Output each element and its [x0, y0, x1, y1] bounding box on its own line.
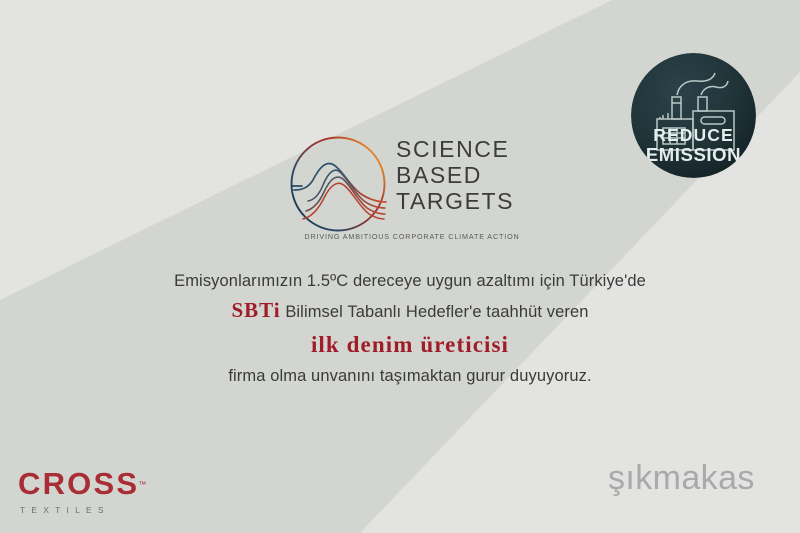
reduce-emission-badge-art: REDUCE EMISSION [631, 53, 756, 178]
sikmakas-logo: şıkmakas [608, 458, 788, 508]
sbt-word-targets: TARGETS [396, 188, 536, 214]
statement-highlight: ilk denim üreticisi [60, 327, 760, 363]
science-based-targets-logo: SCIENCE BASED TARGETS DRIVING AMBITIOUS … [286, 128, 536, 258]
sbt-wave-4 [303, 183, 384, 219]
badge-line-2: EMISSION [646, 144, 741, 165]
sbti-acronym: SBTi [231, 298, 280, 322]
statement-line-1: Emisyonlarımızın 1.5ºC dereceye uygun az… [60, 268, 760, 295]
statement-line-2-rest: Bilimsel Tabanlı Hedefler'e taahhüt vere… [285, 303, 588, 321]
cross-textiles-logo: CROSS ™ TEXTILES [18, 468, 158, 523]
sbt-word-based: BASED [396, 162, 536, 188]
cross-word-text: CROSS [18, 466, 139, 501]
sbt-word-science: SCIENCE [396, 136, 536, 162]
statement-block: Emisyonlarımızın 1.5ºC dereceye uygun az… [60, 268, 760, 390]
sikmakas-wordmark: şıkmakas [608, 458, 788, 498]
sbt-wave-2 [308, 170, 385, 208]
cross-trademark-icon: ™ [138, 469, 146, 501]
sbt-tagline: DRIVING AMBITIOUS CORPORATE CLIMATE ACTI… [288, 232, 536, 241]
sbt-circle-mark-icon [286, 132, 390, 236]
badge-line-1: REDUCE [653, 125, 734, 145]
sbt-wordmark: SCIENCE BASED TARGETS [396, 136, 536, 214]
cross-wordmark: CROSS ™ [18, 468, 139, 500]
reduce-emission-badge: REDUCE EMISSION [631, 53, 756, 178]
statement-line-4: firma olma unvanını taşımaktan gurur duy… [60, 363, 760, 390]
statement-line-2: SBTi Bilimsel Tabanlı Hedefler'e taahhüt… [60, 295, 760, 327]
poster-canvas: SCIENCE BASED TARGETS DRIVING AMBITIOUS … [0, 0, 800, 533]
cross-subtitle: TEXTILES [20, 505, 158, 515]
